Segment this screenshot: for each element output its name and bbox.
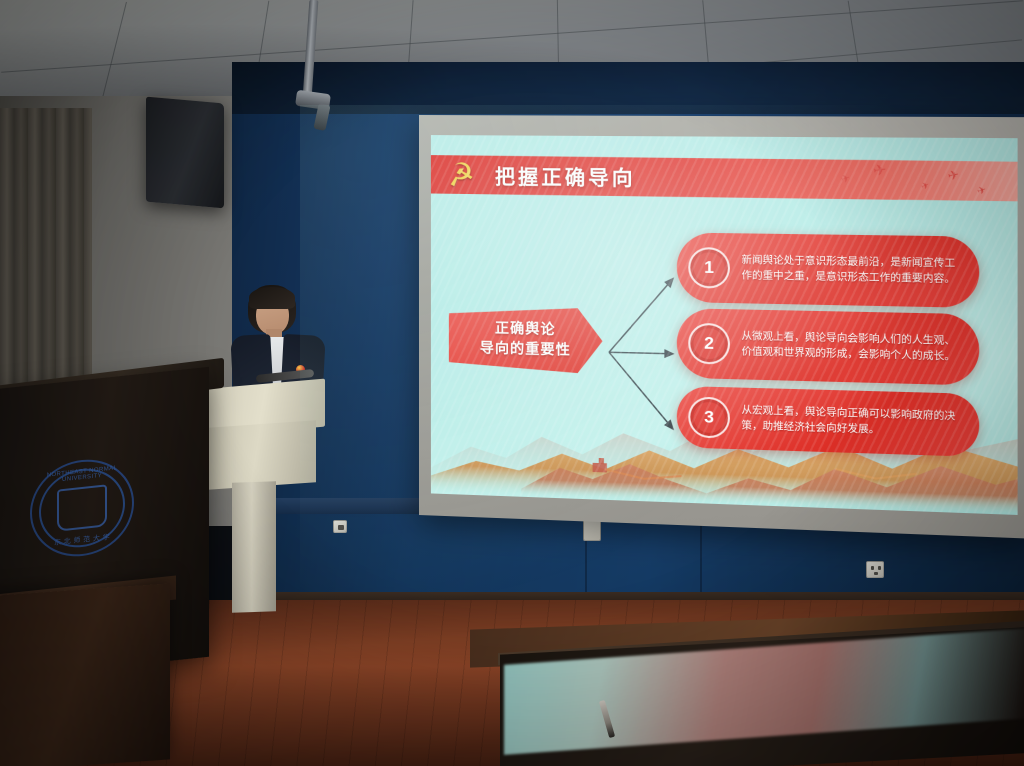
bird-icon: ✈ xyxy=(872,163,888,180)
bird-icon: ✈ xyxy=(920,180,932,192)
slide-title: 把握正确导向 xyxy=(495,161,636,192)
center-node-line1: 正确舆论 xyxy=(495,319,556,341)
item-number-badge: 1 xyxy=(688,247,730,289)
bird-icon: ✈ xyxy=(840,173,852,186)
power-outlet[interactable] xyxy=(866,561,884,578)
bird-icon: ✈ xyxy=(976,185,988,198)
lectern-stem xyxy=(232,481,276,613)
item-text: 从宏观上看，舆论导向正确可以影响政府的决策，助推经济社会向好发展。 xyxy=(742,403,964,441)
item-text: 从微观上看，舆论导向会影响人们的人生观、价值观和世界观的形成，会影响个人的成长。 xyxy=(742,329,964,365)
wall-speaker xyxy=(146,97,224,209)
presentation-slide: ☭ 把握正确导向 ✈ ✈ ✈ ✈ ✈ xyxy=(431,135,1018,515)
lectern-body xyxy=(208,420,316,490)
slide-item-2: 2 从微观上看，舆论导向会影响人们的人生观、价值观和世界观的形成，会影响个人的成… xyxy=(677,308,979,385)
flying-birds-decoration: ✈ ✈ ✈ ✈ ✈ xyxy=(829,156,1002,206)
university-emblem: NORTHEAST NORMAL UNIVERSITY 东 北 师 范 大 学 xyxy=(30,455,134,562)
left-conference-table xyxy=(0,583,170,766)
lecture-hall-scene: ☭ 把握正确导向 ✈ ✈ ✈ ✈ ✈ xyxy=(0,0,1024,766)
communist-party-emblem: ☭ xyxy=(445,155,489,194)
slide-item-3: 3 从宏观上看，舆论导向正确可以影响政府的决策，助推经济社会向好发展。 xyxy=(677,386,979,457)
presenter-fringe xyxy=(249,287,295,309)
center-topic-node: 正确舆论 导向的重要性 xyxy=(449,306,603,374)
slide-item-1: 1 新闻舆论处于意识形态最前沿，是新闻宣传工作的重中之重，是意识形态工作的重要内… xyxy=(677,232,979,307)
item-text: 新闻舆论处于意识形态最前沿，是新闻宣传工作的重中之重，是意识形态工作的重要内容。 xyxy=(742,253,964,288)
bird-icon: ✈ xyxy=(947,169,961,184)
projection-screen-frame: ☭ 把握正确导向 ✈ ✈ ✈ ✈ ✈ xyxy=(419,115,1024,539)
center-node-line2: 导向的重要性 xyxy=(480,338,571,360)
projection-screen-surface: ☭ 把握正确导向 ✈ ✈ ✈ ✈ ✈ xyxy=(431,135,1018,515)
item-number-badge: 2 xyxy=(688,323,730,365)
wall-switch[interactable] xyxy=(333,520,347,533)
item-number-badge: 3 xyxy=(688,396,730,438)
